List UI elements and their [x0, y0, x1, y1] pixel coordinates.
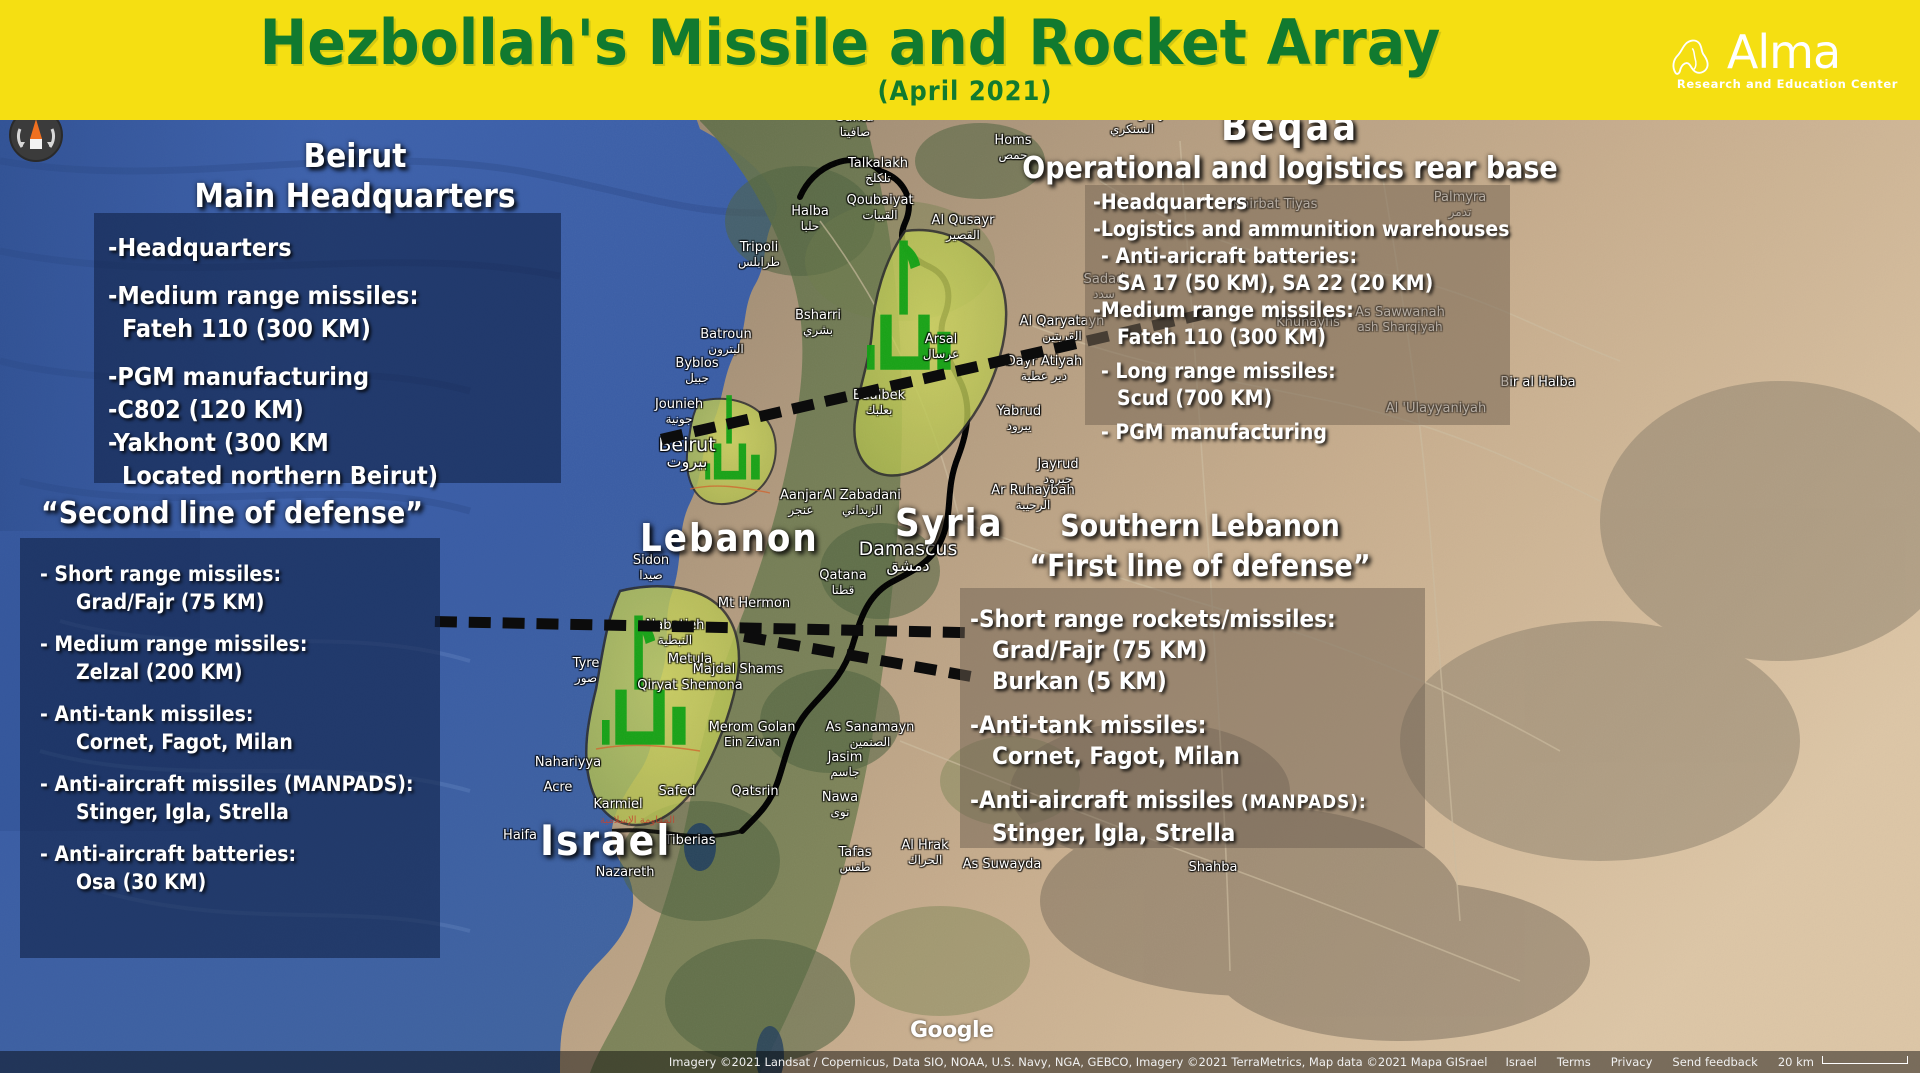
- south-item-burkan: Burkan (5 KM): [970, 666, 1425, 697]
- southern-lebanon-heading-line2: “First line of defense”: [955, 547, 1445, 587]
- beqaa-item-fateh110: Fateh 110 (300 KM): [1093, 324, 1510, 351]
- south-item-manpads-text: -Anti-aircraft missiles: [970, 786, 1241, 814]
- beirut-heading-line2: Main Headquarters: [95, 176, 615, 216]
- country-label-israel: Israel: [540, 816, 671, 865]
- second-item-cornet: Cornet, Fagot, Milan: [34, 728, 440, 756]
- header-banner: Hezbollah's Missile and Rocket Array (Ap…: [0, 0, 1920, 120]
- second-line-heading: “Second line of defense”: [12, 496, 452, 532]
- beirut-item-medium-range: -Medium range missiles:: [108, 279, 561, 312]
- second-item-gradfajr: Grad/Fajr (75 KM): [34, 588, 440, 616]
- southern-lebanon-info-panel: -Short range rockets/missiles: Grad/Fajr…: [960, 588, 1425, 848]
- beirut-item-fateh110: Fateh 110 (300 KM): [108, 312, 561, 345]
- alma-logo: Alma Research and Education Center: [1648, 16, 1898, 104]
- second-item-stinger: Stinger, Igla, Strella: [34, 798, 440, 826]
- beqaa-item-long-range: - Long range missiles:: [1093, 358, 1510, 385]
- second-item-zelzal: Zelzal (200 KM): [34, 658, 440, 686]
- beqaa-item-logistics: -Logistics and ammunition warehouses: [1093, 216, 1510, 243]
- southern-lebanon-heading-line1: Southern Lebanon: [955, 507, 1445, 547]
- attribution-link-send-feedback[interactable]: Send feedback: [1672, 1055, 1757, 1069]
- country-label-lebanon: Lebanon: [640, 516, 819, 560]
- beqaa-info-panel: -Headquarters -Logistics and ammunition …: [1085, 185, 1510, 425]
- south-item-manpads-abbrev: (MANPADS):: [1241, 792, 1367, 813]
- beqaa-item-aa-batteries: - Anti-aricraft batteries:: [1093, 243, 1510, 270]
- second-item-short-range: - Short range missiles:: [34, 560, 440, 588]
- attribution-link-privacy[interactable]: Privacy: [1611, 1055, 1653, 1069]
- beqaa-subtitle: Operational and logistics rear base: [1000, 150, 1580, 188]
- south-item-gradfajr: Grad/Fajr (75 KM): [970, 635, 1425, 666]
- south-item-short-range: -Short range rockets/missiles:: [970, 604, 1425, 635]
- south-item-manpads: -Anti-aircraft missiles (MANPADS):: [970, 785, 1425, 818]
- south-item-cornet: Cornet, Fagot, Milan: [970, 741, 1425, 772]
- infographic-page: Hezbollah's Missile and Rocket Array (Ap…: [0, 0, 1920, 1073]
- attribution-text: Imagery ©2021 Landsat / Copernicus, Data…: [669, 1055, 1488, 1069]
- scale-bar: [1822, 1056, 1908, 1064]
- map-attribution-bar: Imagery ©2021 Landsat / Copernicus, Data…: [0, 1051, 1920, 1073]
- beqaa-item-headquarters: -Headquarters: [1093, 189, 1510, 216]
- second-item-manpads: - Anti-aircraft missiles (MANPADS):: [34, 770, 440, 798]
- beqaa-item-sa17-sa22: SA 17 (50 KM), SA 22 (20 KM): [1093, 270, 1510, 297]
- second-item-aa-batteries: - Anti-aircraft batteries:: [34, 840, 440, 868]
- attribution-link-terms[interactable]: Terms: [1557, 1055, 1591, 1069]
- beirut-item-yakhont-loc: Located northern Beirut): [108, 459, 561, 492]
- south-item-anti-tank: -Anti-tank missiles:: [970, 710, 1425, 741]
- beqaa-item-scud: Scud (700 KM): [1093, 385, 1510, 412]
- alma-logo-name: Alma: [1727, 29, 1840, 75]
- attribution-link-israel[interactable]: Israel: [1505, 1055, 1536, 1069]
- beirut-item-c802: -C802 (120 KM): [108, 393, 561, 426]
- scale-label: 20 km: [1778, 1055, 1814, 1069]
- beirut-item-headquarters: -Headquarters: [108, 231, 561, 264]
- beqaa-item-pgm: - PGM manufacturing: [1093, 419, 1510, 446]
- southern-lebanon-heading: Southern Lebanon “First line of defense”: [955, 507, 1445, 587]
- second-item-osa: Osa (30 KM): [34, 868, 440, 896]
- second-item-anti-tank: - Anti-tank missiles:: [34, 700, 440, 728]
- beirut-heading-line1: Beirut: [95, 136, 615, 176]
- beqaa-item-medium-range: -Medium range missiles:: [1093, 297, 1510, 324]
- south-item-stinger: Stinger, Igla, Strella: [970, 818, 1425, 849]
- beirut-item-pgm: -PGM manufacturing: [108, 360, 561, 393]
- beirut-item-yakhont: -Yakhont (300 KM: [108, 426, 561, 459]
- date-label: (April 2021): [0, 76, 1700, 107]
- beirut-heading: Beirut Main Headquarters: [95, 136, 615, 216]
- alma-logo-subtitle: Research and Education Center: [1677, 77, 1898, 91]
- second-item-medium-range: - Medium range missiles:: [34, 630, 440, 658]
- satellite-map[interactable]: المقاومة الإسلامية SantaصافيتاH: [0, 101, 1920, 1073]
- google-logo: Google: [910, 1018, 994, 1043]
- beirut-info-panel: -Headquarters -Medium range missiles: Fa…: [94, 213, 561, 483]
- second-line-info-panel: - Short range missiles: Grad/Fajr (75 KM…: [20, 538, 440, 958]
- page-title: Hezbollah's Missile and Rocket Array: [0, 6, 1717, 79]
